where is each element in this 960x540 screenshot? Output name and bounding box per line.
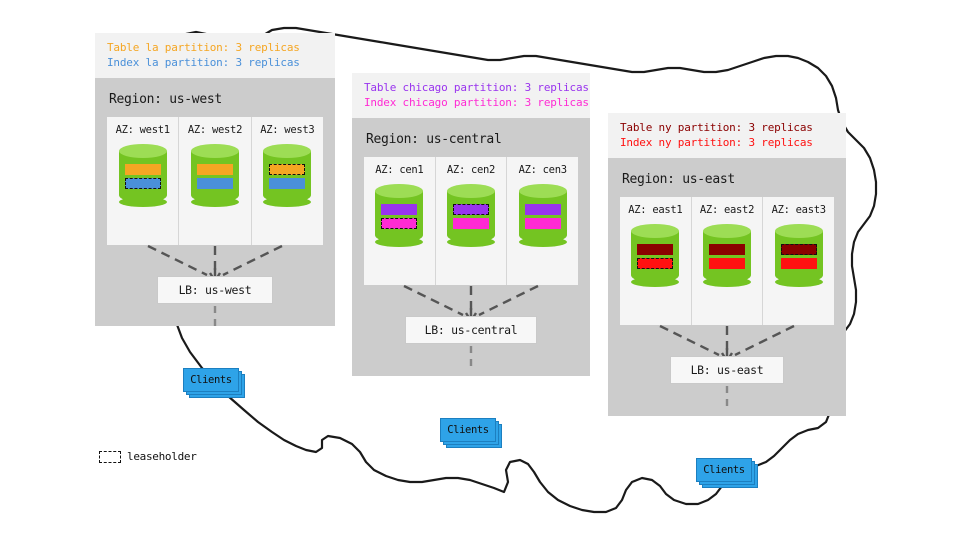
az-cell-west2[interactable]: AZ: west2: [179, 117, 251, 245]
replica-band-table: [269, 164, 305, 175]
az-label: AZ: cen3: [507, 164, 578, 176]
az-cell-east1[interactable]: AZ: east1: [620, 197, 692, 325]
cylinder-bottom: [703, 277, 751, 287]
cylinder-body: [519, 191, 567, 243]
node-cylinder-cen2[interactable]: [436, 184, 507, 246]
partition-line-table: Table la partition: 3 replicas: [107, 40, 323, 55]
az-cell-cen3[interactable]: AZ: cen3: [507, 157, 578, 285]
load-balancer-us-west[interactable]: LB: us-west: [157, 276, 273, 304]
cylinder-bottom: [375, 237, 423, 247]
partition-line-table: Table ny partition: 3 replicas: [620, 120, 834, 135]
region-cluster-us-west: Table la partition: 3 replicas Index la …: [95, 33, 335, 326]
clients-label[interactable]: Clients: [696, 458, 752, 482]
partition-header-us-east: Table ny partition: 3 replicas Index ny …: [608, 113, 846, 158]
cylinder-bottom: [263, 197, 311, 207]
load-balancer-us-central[interactable]: LB: us-central: [405, 316, 537, 344]
cylinder-bottom: [119, 197, 167, 207]
az-strip-us-central: AZ: cen1 AZ: cen2: [364, 157, 578, 285]
partition-line-index: Index chicago partition: 3 replicas: [364, 95, 578, 110]
az-label: AZ: east2: [692, 204, 763, 216]
replica-band-index: [125, 178, 161, 189]
diagram-canvas: Table la partition: 3 replicas Index la …: [0, 0, 960, 540]
partition-line-index: Index ny partition: 3 replicas: [620, 135, 834, 150]
clients-us-east[interactable]: Clients: [696, 458, 758, 486]
az-label: AZ: west1: [107, 124, 178, 136]
cylinder-top: [119, 144, 167, 158]
replica-band-table: [381, 204, 417, 215]
node-cylinder-east2[interactable]: [692, 224, 763, 286]
cylinder-body: [775, 231, 823, 283]
replica-band-index: [525, 218, 561, 229]
az-label: AZ: west2: [179, 124, 250, 136]
region-cluster-us-central: Table chicago partition: 3 replicas Inde…: [352, 73, 590, 376]
cylinder-body: [631, 231, 679, 283]
partition-line-table: Table chicago partition: 3 replicas: [364, 80, 578, 95]
region-box-us-west: Region: us-west AZ: west1: [95, 78, 335, 326]
cylinder-top: [775, 224, 823, 238]
cylinder-top: [375, 184, 423, 198]
az-label: AZ: east1: [620, 204, 691, 216]
az-label: AZ: east3: [763, 204, 834, 216]
replica-band-index: [709, 258, 745, 269]
az-cell-east3[interactable]: AZ: east3: [763, 197, 834, 325]
clients-us-west[interactable]: Clients: [183, 368, 245, 396]
cylinder-top: [631, 224, 679, 238]
cylinder-top: [703, 224, 751, 238]
replica-band-index: [453, 218, 489, 229]
node-cylinder-west3[interactable]: [252, 144, 323, 206]
az-cell-cen2[interactable]: AZ: cen2: [436, 157, 508, 285]
replica-band-index: [637, 258, 673, 269]
az-strip-us-east: AZ: east1 AZ: east2: [620, 197, 834, 325]
cylinder-body: [703, 231, 751, 283]
node-cylinder-cen1[interactable]: [364, 184, 435, 246]
legend-label: leaseholder: [127, 450, 197, 463]
replica-band-table: [637, 244, 673, 255]
cylinder-bottom: [519, 237, 567, 247]
cylinder-top: [519, 184, 567, 198]
replica-band-table: [525, 204, 561, 215]
cylinder-body: [119, 151, 167, 203]
load-balancer-us-east[interactable]: LB: us-east: [670, 356, 784, 384]
cylinder-body: [447, 191, 495, 243]
region-title: Region: us-west: [95, 78, 335, 117]
node-cylinder-west2[interactable]: [179, 144, 250, 206]
region-box-us-east: Region: us-east AZ: east1: [608, 158, 846, 416]
az-cell-west3[interactable]: AZ: west3: [252, 117, 323, 245]
node-cylinder-east1[interactable]: [620, 224, 691, 286]
replica-band-index: [781, 258, 817, 269]
cylinder-body: [375, 191, 423, 243]
region-box-us-central: Region: us-central AZ: cen1: [352, 118, 590, 376]
partition-line-index: Index la partition: 3 replicas: [107, 55, 323, 70]
az-label: AZ: cen1: [364, 164, 435, 176]
node-cylinder-west1[interactable]: [107, 144, 178, 206]
partition-header-us-west: Table la partition: 3 replicas Index la …: [95, 33, 335, 78]
cylinder-top: [263, 144, 311, 158]
az-label: AZ: cen2: [436, 164, 507, 176]
replica-band-index: [269, 178, 305, 189]
replica-band-table: [125, 164, 161, 175]
replica-band-table: [453, 204, 489, 215]
az-strip-us-west: AZ: west1 AZ: west2: [107, 117, 323, 245]
cylinder-bottom: [775, 277, 823, 287]
node-cylinder-cen3[interactable]: [507, 184, 578, 246]
clients-label[interactable]: Clients: [440, 418, 496, 442]
clients-label[interactable]: Clients: [183, 368, 239, 392]
region-title: Region: us-east: [608, 158, 846, 197]
replica-band-index: [381, 218, 417, 229]
dashed-rect-icon: [99, 451, 121, 463]
cylinder-bottom: [191, 197, 239, 207]
cylinder-bottom: [447, 237, 495, 247]
cylinder-top: [447, 184, 495, 198]
az-cell-east2[interactable]: AZ: east2: [692, 197, 764, 325]
region-cluster-us-east: Table ny partition: 3 replicas Index ny …: [608, 113, 846, 416]
az-cell-cen1[interactable]: AZ: cen1: [364, 157, 436, 285]
region-title: Region: us-central: [352, 118, 590, 157]
replica-band-table: [781, 244, 817, 255]
cylinder-body: [263, 151, 311, 203]
partition-header-us-central: Table chicago partition: 3 replicas Inde…: [352, 73, 590, 118]
legend: leaseholder: [99, 450, 197, 463]
az-label: AZ: west3: [252, 124, 323, 136]
replica-band-table: [197, 164, 233, 175]
cylinder-bottom: [631, 277, 679, 287]
cylinder-top: [191, 144, 239, 158]
replica-band-index: [197, 178, 233, 189]
clients-us-central[interactable]: Clients: [440, 418, 502, 446]
node-cylinder-east3[interactable]: [763, 224, 834, 286]
replica-band-table: [709, 244, 745, 255]
cylinder-body: [191, 151, 239, 203]
az-cell-west1[interactable]: AZ: west1: [107, 117, 179, 245]
